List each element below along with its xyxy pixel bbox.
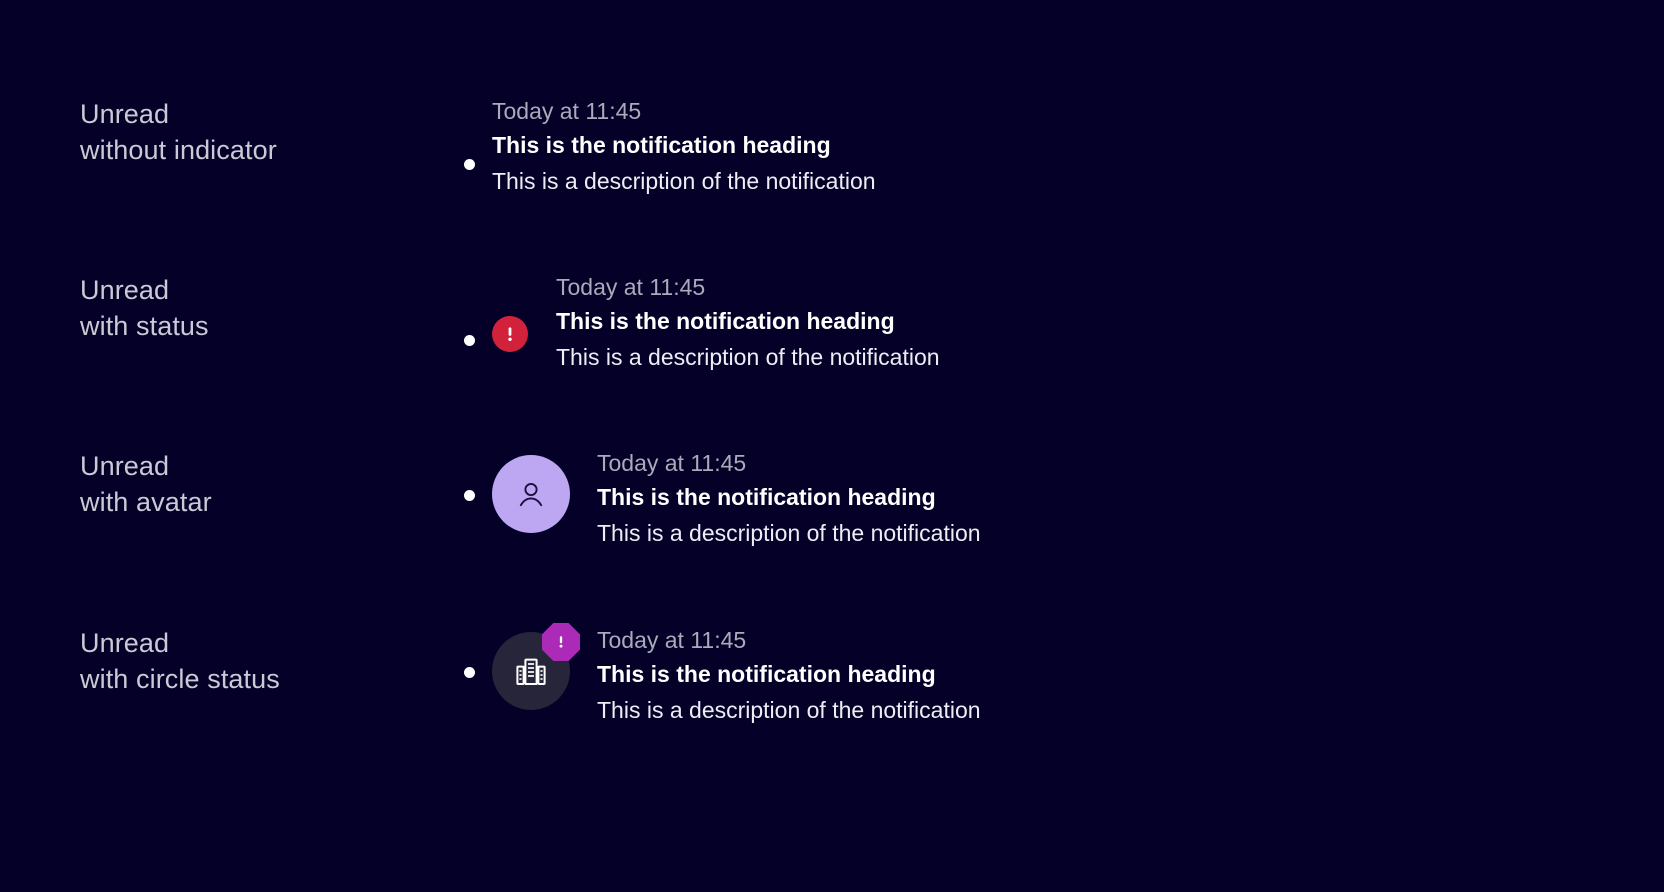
avatar[interactable] bbox=[492, 632, 570, 710]
specimen-row-unread-without-indicator: Unread without indicator Today at 11:45 … bbox=[0, 96, 1664, 197]
notification-unread-with-status[interactable]: Today at 11:45 This is the notification … bbox=[440, 272, 1664, 373]
notification-unread-without-indicator[interactable]: Today at 11:45 This is the notification … bbox=[440, 96, 1664, 197]
notification-heading: This is the notification heading bbox=[556, 306, 940, 337]
notification-timestamp: Today at 11:45 bbox=[492, 96, 876, 126]
notification-heading: This is the notification heading bbox=[597, 659, 981, 690]
row-label-unread-with-circle-status: Unread with circle status bbox=[0, 625, 440, 697]
notification-timestamp: Today at 11:45 bbox=[556, 272, 940, 302]
user-icon bbox=[511, 474, 551, 514]
notification-text-block: Today at 11:45 This is the notification … bbox=[597, 625, 981, 726]
row-label-unread-without-indicator: Unread without indicator bbox=[0, 96, 440, 168]
unread-indicator-dot bbox=[464, 335, 475, 346]
unread-indicator-dot bbox=[464, 159, 475, 170]
unread-dot-column bbox=[464, 448, 492, 501]
notification-specimen-board: Unread without indicator Today at 11:45 … bbox=[0, 0, 1664, 892]
status-error-icon bbox=[492, 316, 528, 352]
unread-dot-column bbox=[464, 625, 492, 678]
notification-unread-with-avatar[interactable]: Today at 11:45 This is the notification … bbox=[440, 448, 1664, 549]
avatar[interactable] bbox=[492, 455, 570, 533]
notification-heading: This is the notification heading bbox=[492, 130, 876, 161]
notification-description: This is a description of the notificatio… bbox=[492, 166, 876, 197]
notification-text-block: Today at 11:45 This is the notification … bbox=[492, 96, 876, 197]
specimen-row-unread-with-avatar: Unread with avatar Today at 11:45 This i… bbox=[0, 448, 1664, 549]
unread-indicator-dot bbox=[464, 667, 475, 678]
specimen-row-unread-with-status: Unread with status Today at 11:45 This i… bbox=[0, 272, 1664, 373]
unread-indicator-dot bbox=[464, 490, 475, 501]
unread-dot-column bbox=[464, 272, 492, 346]
building-icon bbox=[511, 651, 551, 691]
notification-description: This is a description of the notificatio… bbox=[597, 695, 981, 726]
notification-text-block: Today at 11:45 This is the notification … bbox=[597, 448, 981, 549]
row-label-unread-with-status: Unread with status bbox=[0, 272, 440, 344]
notification-timestamp: Today at 11:45 bbox=[597, 448, 981, 478]
exclamation-octagon-icon bbox=[542, 623, 580, 661]
notification-heading: This is the notification heading bbox=[597, 482, 981, 513]
row-label-unread-with-avatar: Unread with avatar bbox=[0, 448, 440, 520]
unread-dot-column bbox=[464, 96, 492, 170]
specimen-row-unread-with-circle-status: Unread with circle status bbox=[0, 625, 1664, 726]
notification-text-block: Today at 11:45 This is the notification … bbox=[556, 272, 940, 373]
status-icon-column bbox=[492, 272, 556, 352]
notification-description: This is a description of the notificatio… bbox=[597, 518, 981, 549]
avatar-column bbox=[492, 625, 597, 710]
notification-description: This is a description of the notificatio… bbox=[556, 342, 940, 373]
avatar-column bbox=[492, 448, 597, 533]
notification-unread-with-circle-status[interactable]: Today at 11:45 This is the notification … bbox=[440, 625, 1664, 726]
notification-timestamp: Today at 11:45 bbox=[597, 625, 981, 655]
